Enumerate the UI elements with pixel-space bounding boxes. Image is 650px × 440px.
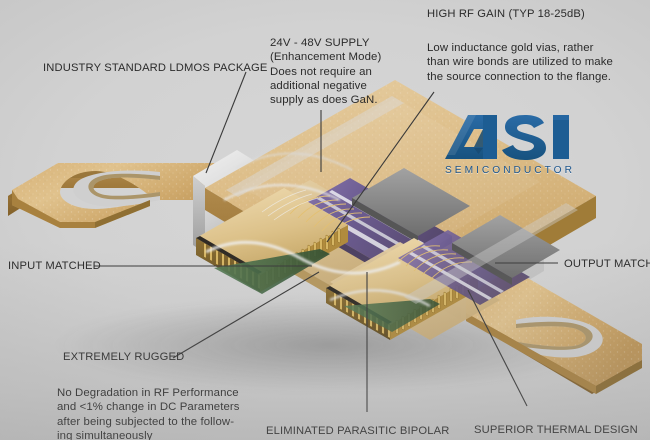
callout-industry-standard-ldmos-package: INDUSTRY STANDARD LDMOS PACKAGE (43, 62, 268, 74)
asi-logo: SEMICONDUCTOR (443, 113, 593, 176)
callout-low-inductance-gold-vias: Low inductance gold vias, rather than wi… (427, 41, 613, 84)
callout-output-matched: OUTPUT MATCHED (564, 258, 650, 270)
callout-supply-voltage: 24V - 48V SUPPLY (Enhancement Mode) Does… (270, 36, 381, 107)
callout-extremely-rugged: EXTREMELY RUGGED (63, 351, 184, 363)
callout-input-matched: INPUT MATCHED (8, 260, 101, 272)
asi-wordmark: SEMICONDUCTOR (445, 165, 593, 176)
callout-high-rf-gain: HIGH RF GAIN (TYP 18-25dB) (427, 8, 585, 20)
diagram-canvas: SEMICONDUCTOR INDUSTRY STANDARD LDMOS PA… (0, 0, 650, 440)
callout-eliminated-parasitic-bipolar: ELIMINATED PARASITIC BIPOLAR (266, 425, 449, 437)
callout-superior-thermal-design: SUPERIOR THERMAL DESIGN (474, 424, 638, 436)
callout-rugged-detail: No Degradation in RF Performance and <1%… (57, 386, 240, 440)
asi-logo-mark (443, 113, 593, 163)
